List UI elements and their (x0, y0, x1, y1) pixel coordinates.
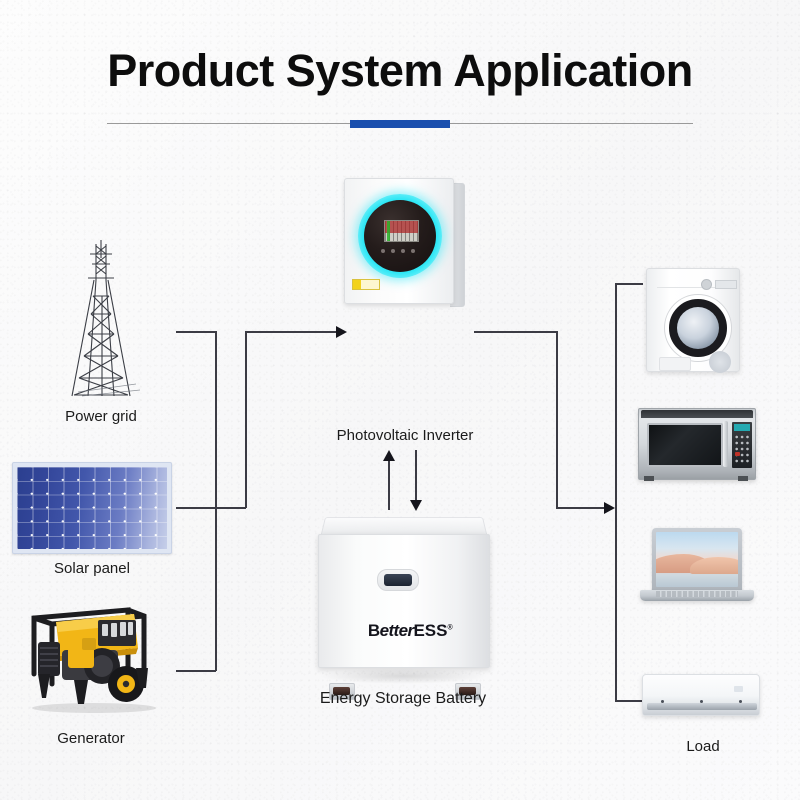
microwave-foot-right (738, 476, 748, 481)
air-conditioner-body (642, 674, 760, 716)
microwave-stop-key (735, 452, 740, 456)
line-battery-to-inverter (388, 458, 390, 510)
inverter-button-3[interactable] (401, 249, 405, 253)
divider-accent (350, 120, 450, 128)
inverter-warning-label-icon (352, 279, 380, 290)
line-inverter-to-right (474, 331, 558, 333)
washing-machine-knob (701, 279, 712, 290)
arrow-to-inverter (336, 326, 347, 338)
arrow-down-to-battery (410, 500, 422, 511)
line-load-bus (615, 283, 617, 701)
washing-machine-icon (640, 262, 744, 378)
laptop-icon (640, 528, 754, 614)
line-branch-ac (615, 700, 643, 702)
photovoltaic-inverter-icon (344, 178, 466, 314)
washing-machine-badge (709, 351, 731, 373)
title-divider (107, 120, 693, 128)
battery-brand-logo: BBetterESSetterESS® (319, 621, 501, 641)
microwave-display (734, 424, 750, 431)
air-conditioner-display (734, 686, 743, 692)
line-branch-washer (615, 283, 643, 285)
line-to-load-bus (556, 507, 610, 509)
battery-front-face: BBetterESSetterESS® (318, 534, 490, 668)
battery-brand-mark: ® (448, 624, 453, 631)
inverter-lcd-display (384, 220, 419, 242)
header: Product System Application (0, 48, 800, 128)
microwave-body (638, 408, 756, 480)
laptop-base (640, 590, 754, 601)
microwave-keypad (734, 434, 750, 464)
inverter-button-1[interactable] (381, 249, 385, 253)
diagram-canvas: Product System Application (0, 0, 800, 800)
line-powergrid-to-bus (176, 331, 216, 333)
power-grid-label: Power grid (36, 408, 166, 425)
air-conditioner-dot-right (739, 700, 742, 703)
inverter-body (344, 178, 454, 304)
microwave-foot-left (644, 476, 654, 481)
arrow-up-to-inverter (383, 450, 395, 461)
washing-machine-drum (677, 307, 719, 349)
air-conditioner-vent (647, 703, 757, 710)
air-conditioner-dot-center (700, 700, 703, 703)
microwave-top-vent (641, 410, 753, 418)
solar-panel-frame (12, 462, 172, 554)
laptop-keyboard (656, 591, 738, 597)
load-label: Load (643, 738, 763, 755)
generator-label: Generator (26, 730, 156, 747)
line-bus-junction (215, 507, 246, 509)
microwave-handle (723, 421, 728, 467)
line-inverter-to-battery (415, 450, 417, 502)
line-right-drop (556, 331, 558, 508)
air-conditioner-icon (642, 674, 760, 716)
washing-machine-control-panel (657, 273, 733, 288)
laptop-screen (656, 532, 738, 587)
inverter-button-2[interactable] (391, 249, 395, 253)
washing-machine-drawer (659, 357, 691, 371)
line-generator-to-bus (176, 670, 216, 672)
microwave-control-panel (732, 422, 752, 468)
solar-panel-icon (12, 462, 172, 554)
air-conditioner-dot-left (661, 700, 664, 703)
line-left-bus (215, 331, 217, 671)
solar-panel-label: Solar panel (27, 560, 157, 577)
page-title: Product System Application (0, 48, 800, 93)
microwave-door (647, 423, 723, 467)
arrow-to-loads (604, 502, 615, 514)
energy-storage-battery-icon: BBetterESSetterESS® (312, 514, 494, 680)
power-grid-tower-icon (58, 238, 144, 400)
inverter-button-4[interactable] (411, 249, 415, 253)
line-riser-to-inverter (245, 331, 247, 508)
laptop-lid (652, 528, 742, 591)
inverter-label: Photovoltaic Inverter (305, 427, 505, 444)
line-to-inverter (245, 331, 338, 333)
washing-machine-body (646, 268, 740, 372)
generator-icon (16, 598, 166, 716)
line-solar-to-bus (176, 507, 216, 509)
solar-panel-cells (17, 467, 167, 549)
washing-machine-display (715, 280, 737, 289)
battery-label: Energy Storage Battery (303, 690, 503, 708)
battery-display-handle (377, 569, 419, 591)
microwave-oven-icon (638, 408, 754, 484)
